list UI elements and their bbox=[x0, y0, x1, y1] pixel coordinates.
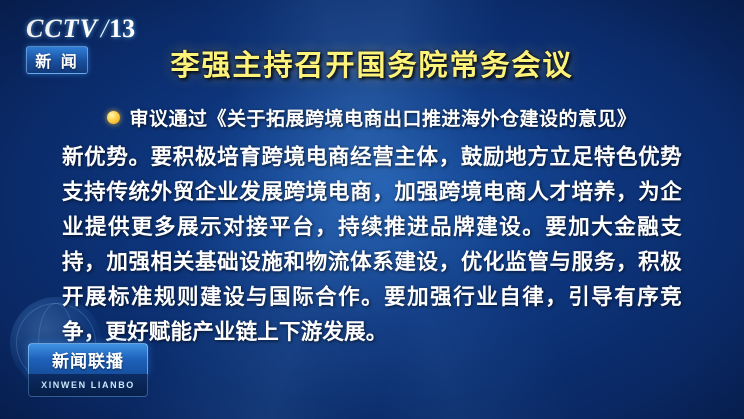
headline-title: 李强主持召开国务院常务会议 bbox=[0, 42, 744, 84]
station-bug-subtitle: XINWEN LIANBO bbox=[41, 380, 135, 390]
subheadline-text: 审议通过《关于拓展跨境电商出口推进海外仓建设的意见》 bbox=[129, 104, 636, 131]
station-bug-title: 新闻联播 bbox=[52, 347, 124, 372]
channel-number: 13 bbox=[109, 14, 135, 44]
logo-slash-divider: / bbox=[101, 14, 108, 44]
bullet-dot-icon bbox=[107, 111, 120, 124]
channel-logo-row: CCTV / 13 bbox=[26, 14, 156, 44]
station-bug-subtitle-bar: XINWEN LIANBO bbox=[28, 374, 148, 397]
subheadline-row: 审议通过《关于拓展跨境电商出口推进海外仓建设的意见》 bbox=[0, 104, 744, 131]
body-paragraph: 新优势。要积极培育跨境电商经营主体，鼓励地方立足特色优势支持传统外贸企业发展跨境… bbox=[62, 140, 682, 350]
station-bug-title-bar: 新闻联播 bbox=[28, 343, 148, 374]
station-bug: 新闻联播 XINWEN LIANBO bbox=[28, 343, 146, 397]
cctv-wordmark: CCTV bbox=[26, 14, 98, 44]
broadcast-screen: CCTV / 13 新 闻 李强主持召开国务院常务会议 审议通过《关于拓展跨境电… bbox=[0, 0, 744, 419]
